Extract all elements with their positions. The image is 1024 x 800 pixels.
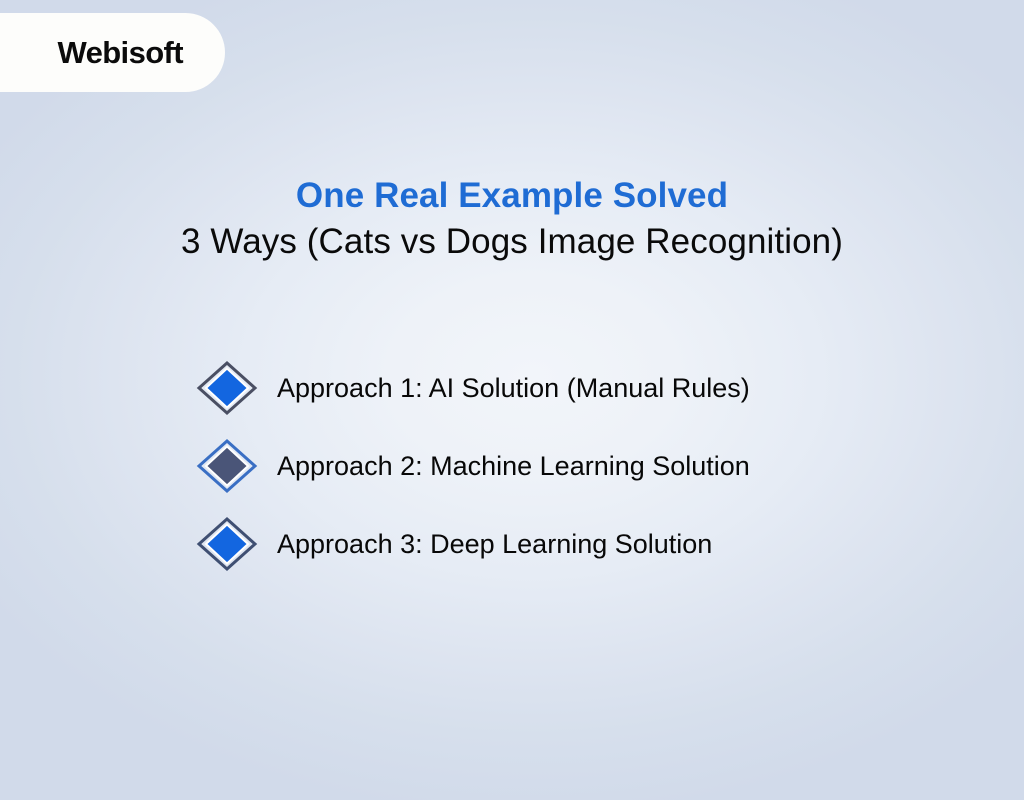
list-item: Approach 3: Deep Learning Solution <box>196 514 896 574</box>
list-item-label: Approach 1: AI Solution (Manual Rules) <box>277 373 750 403</box>
list-item: Approach 2: Machine Learning Solution <box>196 436 896 496</box>
approach-list: Approach 1: AI Solution (Manual Rules) A… <box>196 358 896 574</box>
diamond-icon <box>196 438 258 494</box>
brand-logo-pill: Webisoft <box>0 13 225 92</box>
list-item-label: Approach 2: Machine Learning Solution <box>277 451 750 481</box>
diamond-icon <box>196 360 258 416</box>
heading-block: One Real Example Solved 3 Ways (Cats vs … <box>0 174 1024 266</box>
page-title: One Real Example Solved <box>0 174 1024 218</box>
page-subtitle: 3 Ways (Cats vs Dogs Image Recognition) <box>0 218 1024 266</box>
diamond-icon <box>196 516 258 572</box>
list-item-label: Approach 3: Deep Learning Solution <box>277 529 712 559</box>
slide-canvas: Webisoft One Real Example Solved 3 Ways … <box>0 0 1024 800</box>
brand-logo-text: Webisoft <box>57 35 183 71</box>
list-item: Approach 1: AI Solution (Manual Rules) <box>196 358 896 418</box>
